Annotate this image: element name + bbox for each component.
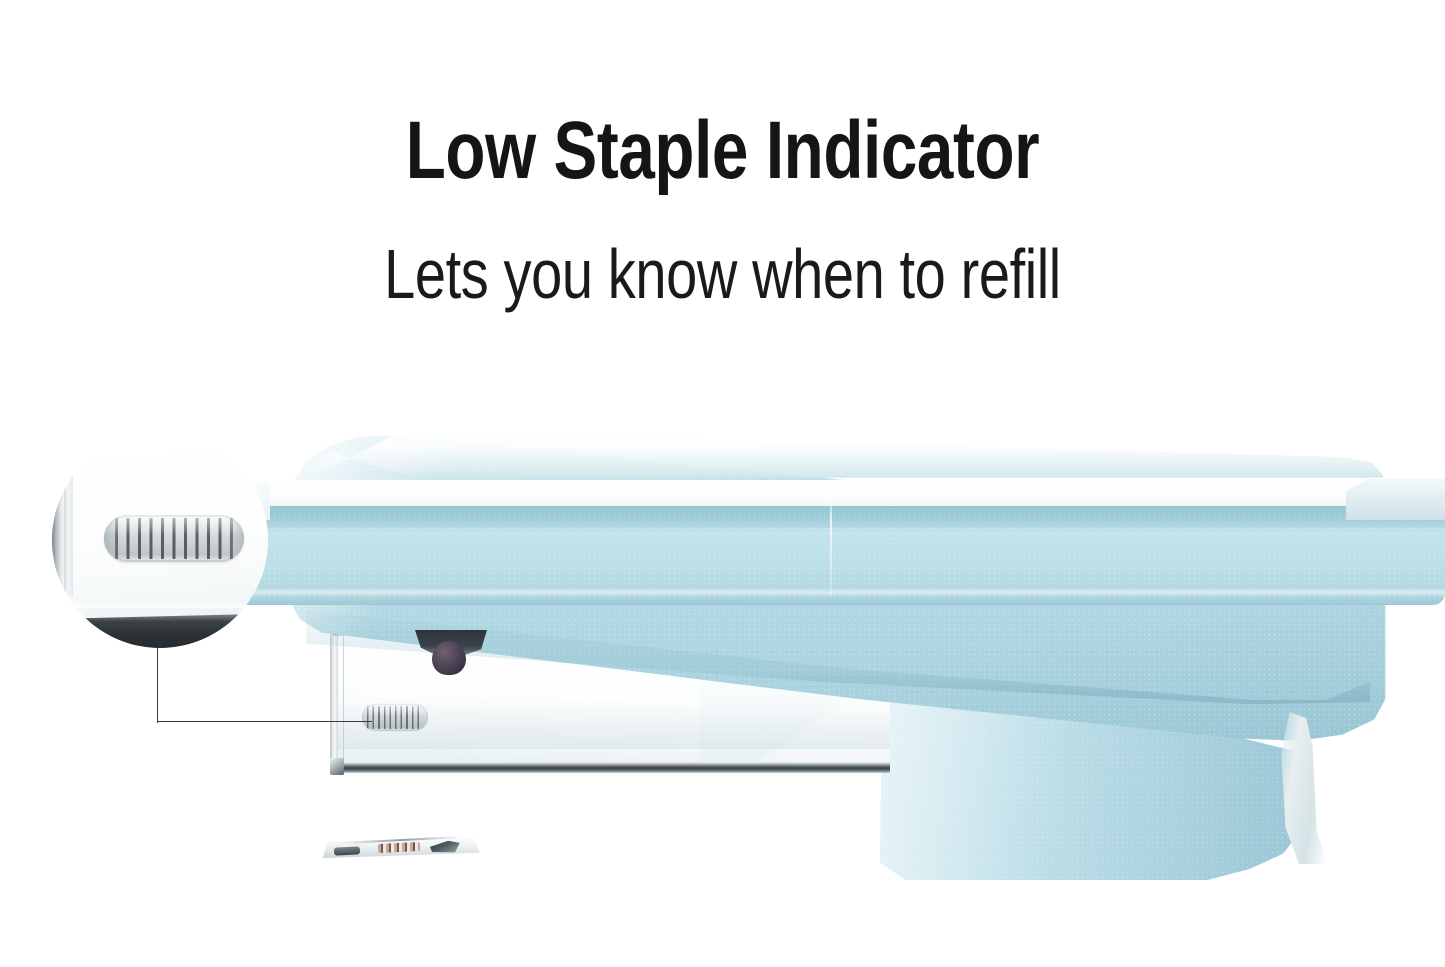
magazine-latch-button [432,641,466,675]
base-vertical-seam [830,488,832,596]
base-top-color-band [222,506,1445,528]
callout-indicator-window-magnified [104,515,244,562]
staple-track [334,762,890,773]
indicator-gloss [362,704,428,716]
stapler-base [222,480,1445,605]
stapler-anvil [316,836,480,860]
base-right-end-cap [1346,476,1445,520]
product-feature-image: Low Staple Indicator Lets you know when … [0,0,1445,967]
callout-metal-strip-highlight [64,474,73,596]
page-title: Low Staple Indicator [145,108,1301,194]
page-subtitle: Lets you know when to refill [145,236,1301,312]
callout-leader-line-horizontal [157,721,372,722]
low-staple-indicator-window [362,704,428,731]
callout-magnifier-circle [52,432,268,648]
callout-indicator-gloss [104,515,244,536]
anvil-groove-left [334,846,360,855]
